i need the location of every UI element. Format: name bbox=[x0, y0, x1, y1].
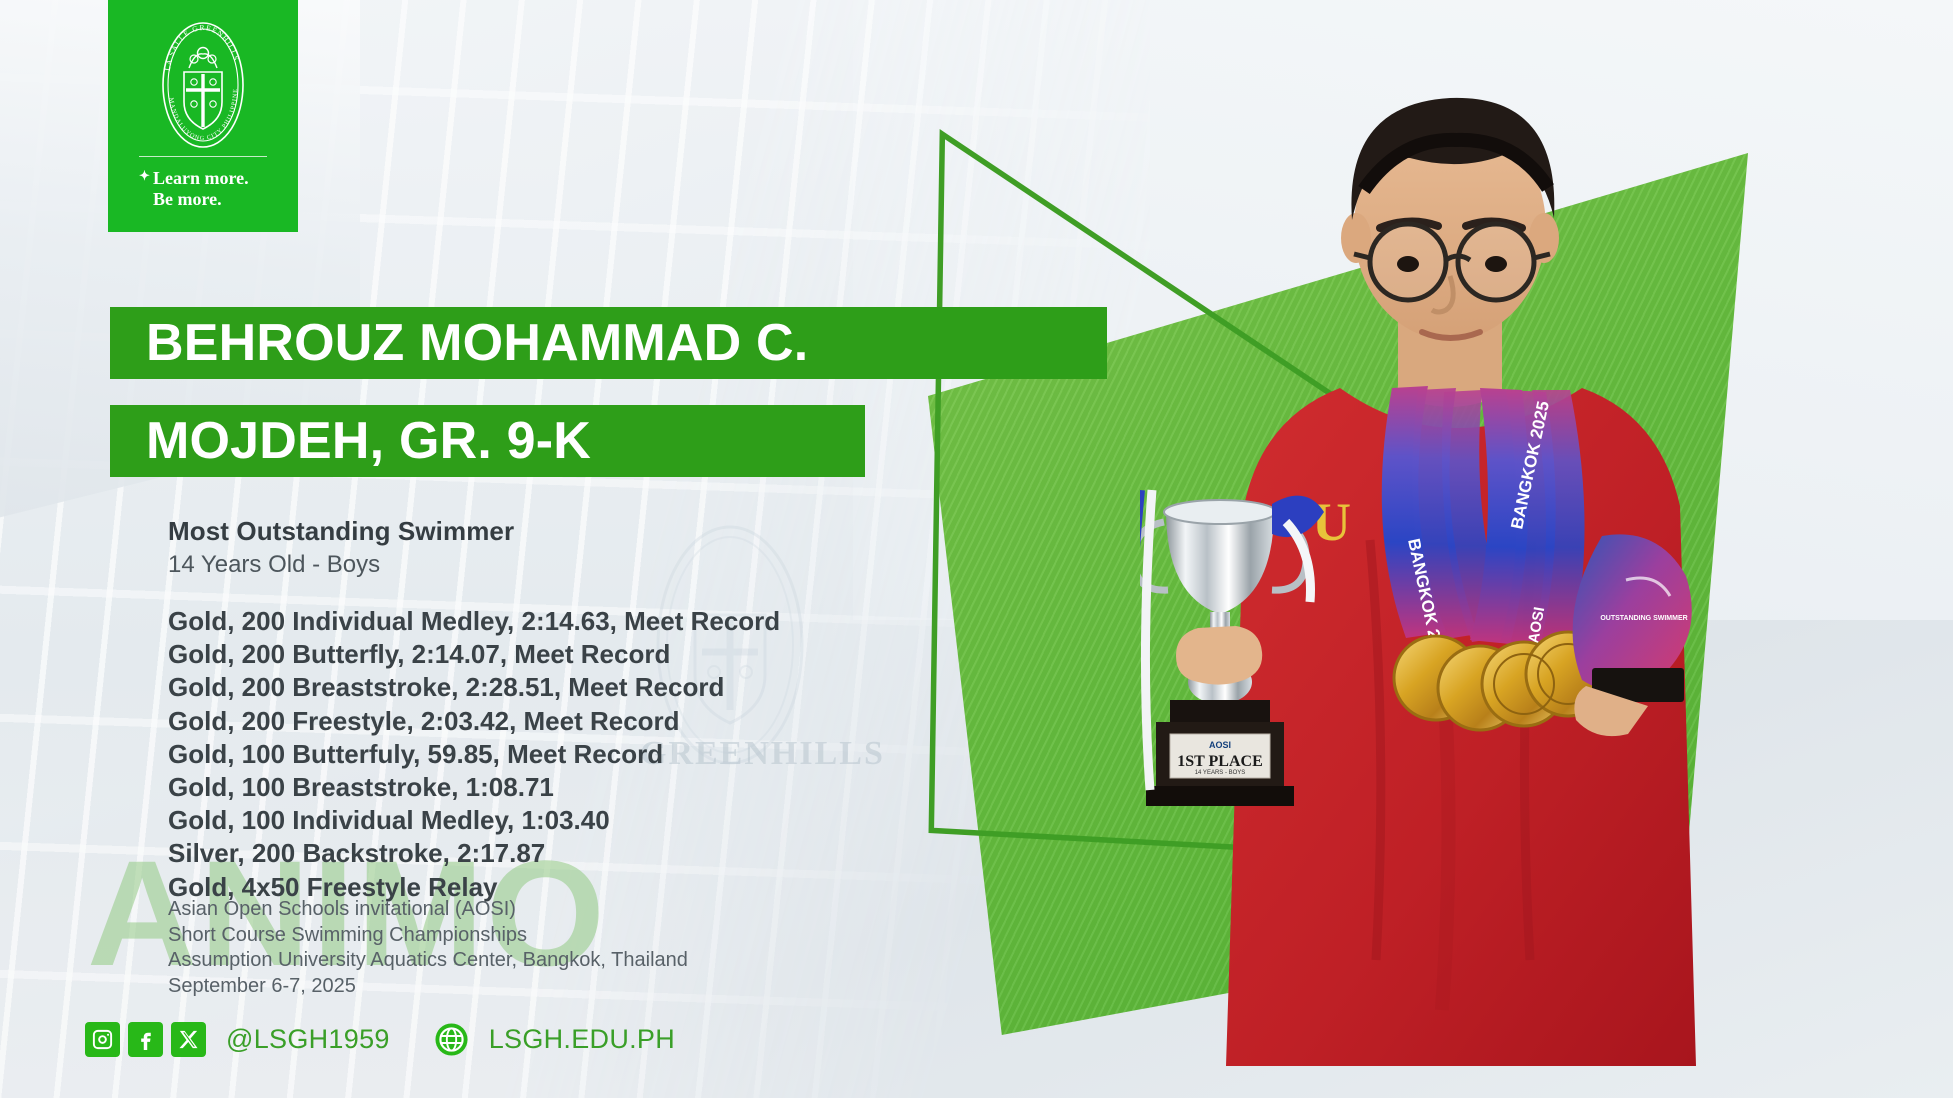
event-details: Asian Open Schools invitational (AOSI)Sh… bbox=[168, 897, 688, 999]
achievement-poster: GREENHILLS bbox=[0, 0, 1953, 1098]
facebook-icon[interactable] bbox=[128, 1022, 163, 1057]
result-line: Gold, 200 Freestyle, 2:03.42, Meet Recor… bbox=[168, 705, 780, 738]
tagline-line-1: Learn more. bbox=[153, 168, 249, 188]
tagline-line-2: Be more. bbox=[153, 189, 222, 209]
result-line: Gold, 100 Individual Medley, 1:03.40 bbox=[168, 804, 780, 837]
globe-icon[interactable] bbox=[434, 1022, 469, 1057]
event-line: Short Course Swimming Championships bbox=[168, 923, 688, 949]
result-line: Gold, 100 Butterfuly, 59.85, Meet Record bbox=[168, 738, 780, 771]
trophy-plate-aosi: AOSI bbox=[1209, 740, 1231, 750]
lsgh-crest-icon: LA SALLE GREENHILLS MANDALUYONG CITY PHI… bbox=[155, 20, 251, 150]
result-line: Gold, 200 Individual Medley, 2:14.63, Me… bbox=[168, 605, 780, 638]
result-line: Gold, 100 Breaststroke, 1:08.71 bbox=[168, 771, 780, 804]
social-handle: @LSGH1959 bbox=[226, 1024, 390, 1055]
shirt-logo-letter: U bbox=[1312, 492, 1351, 552]
social-footer: @LSGH1959 LSGH.EDU.PH bbox=[85, 1022, 675, 1057]
lsgh-logo-block: LA SALLE GREENHILLS MANDALUYONG CITY PHI… bbox=[108, 0, 298, 232]
award-title: Most Outstanding Swimmer bbox=[168, 516, 514, 547]
result-line: Silver, 200 Backstroke, 2:17.87 bbox=[168, 837, 780, 870]
website-url: LSGH.EDU.PH bbox=[489, 1024, 675, 1055]
star-icon: ✦ bbox=[139, 169, 150, 182]
trophy-plate-place: 1ST PLACE bbox=[1177, 753, 1263, 770]
result-line: Gold, 200 Butterfly, 2:14.07, Meet Recor… bbox=[168, 638, 780, 671]
acrylic-award-text: OUTSTANDING SWIMMER bbox=[1600, 615, 1687, 622]
instagram-icon[interactable] bbox=[85, 1022, 120, 1057]
x-twitter-icon[interactable] bbox=[171, 1022, 206, 1057]
athlete-name-banner-line1: BEHROUZ MOHAMMAD C. bbox=[110, 307, 1107, 379]
results-list: Gold, 200 Individual Medley, 2:14.63, Me… bbox=[168, 605, 780, 904]
event-line: Asian Open Schools invitational (AOSI) bbox=[168, 897, 688, 923]
event-line: September 6-7, 2025 bbox=[168, 974, 688, 1000]
athlete-name-banner-line2: MOJDEH, GR. 9-K bbox=[110, 405, 865, 477]
athlete-photo: U Science bbox=[1140, 70, 1760, 1098]
logo-divider bbox=[139, 156, 267, 157]
trophy-plate-category: 14 YEARS - BOYS bbox=[1195, 770, 1246, 776]
brand-tagline: ✦ Learn more. Be more. bbox=[139, 168, 267, 210]
award-category: 14 Years Old - Boys bbox=[168, 551, 380, 579]
result-line: Gold, 200 Breaststroke, 2:28.51, Meet Re… bbox=[168, 671, 780, 704]
event-line: Assumption University Aquatics Center, B… bbox=[168, 948, 688, 974]
